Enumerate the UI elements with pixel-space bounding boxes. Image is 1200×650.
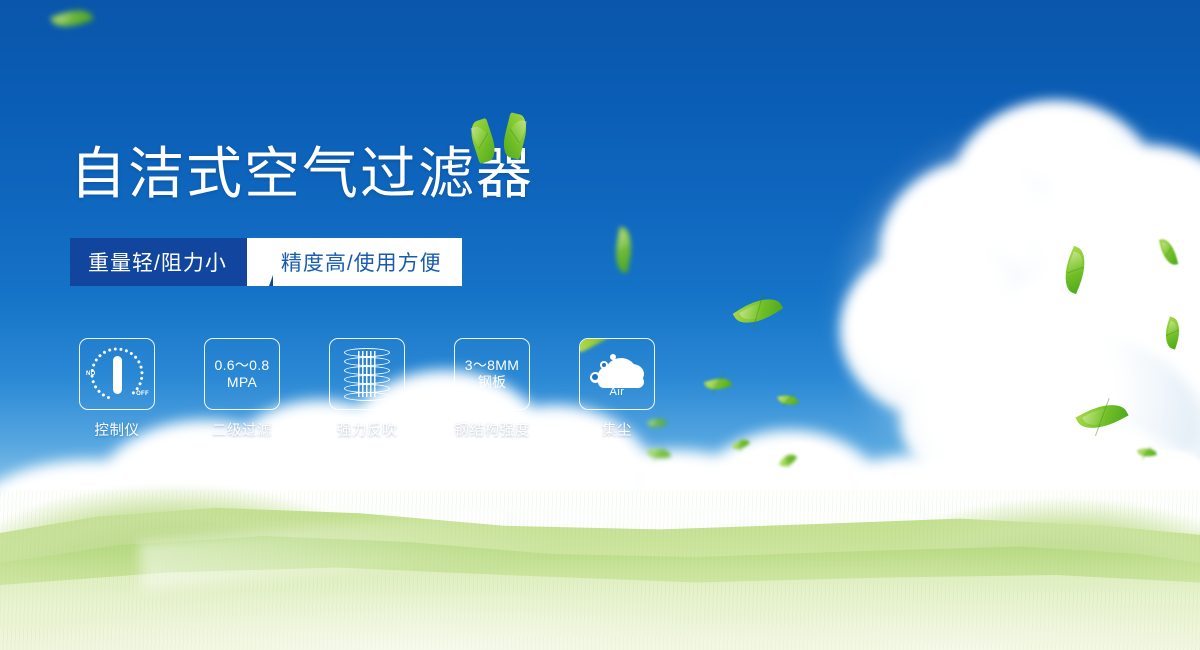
gauge-label-on: NO <box>86 371 96 377</box>
subtitle-right: 精度高/使用方便 <box>273 238 462 286</box>
pressure-value: 0.6～0.8 <box>214 357 269 373</box>
gauge-icon: NO OFF <box>87 347 147 401</box>
feature-label: 二级过滤 <box>212 419 272 440</box>
page-title: 自洁式空气过滤器 <box>70 145 534 204</box>
feature-list: NO OFF 控制仪 0.6～0.8 MPA 二级过滤 <box>79 338 655 440</box>
feature-box: Air <box>579 338 655 410</box>
feature-label: 钢结构强度 <box>454 419 530 440</box>
pressure-unit: MPA <box>214 374 269 392</box>
steel-thickness: 3～8MM <box>465 357 519 373</box>
air-cloud-icon: Air <box>588 352 646 396</box>
feature-box <box>329 338 405 410</box>
feature-item-pulse-blowback[interactable]: 强力反吹 <box>329 338 405 440</box>
feature-label: 控制仪 <box>94 419 139 440</box>
subtitle-divider <box>247 238 273 286</box>
gauge-label-off: OFF <box>136 391 149 397</box>
coil-filter-icon <box>344 348 390 400</box>
feature-label: 集尘 <box>602 419 632 440</box>
feature-item-control-gauge[interactable]: NO OFF 控制仪 <box>79 338 155 440</box>
feature-box: 0.6～0.8 MPA <box>204 338 280 410</box>
steel-material: 钢板 <box>465 374 519 392</box>
product-banner: 自洁式空气过滤器 重量轻/阻力小 精度高/使用方便 <box>0 0 1200 650</box>
subtitle-bar: 重量轻/阻力小 精度高/使用方便 <box>70 238 462 286</box>
feature-box: 3～8MM 钢板 <box>454 338 530 410</box>
feature-label: 强力反吹 <box>337 419 397 440</box>
sprout-leaves-icon <box>473 112 535 162</box>
steel-plate-text-icon: 3～8MM 钢板 <box>465 357 519 392</box>
feature-box: NO OFF <box>79 338 155 410</box>
pressure-text-icon: 0.6～0.8 MPA <box>214 357 269 392</box>
feature-item-steel-strength[interactable]: 3～8MM 钢板 钢结构强度 <box>454 338 530 440</box>
subtitle-left: 重量轻/阻力小 <box>70 238 247 286</box>
sprout-leaf-right <box>500 112 530 160</box>
air-label: Air <box>588 386 646 398</box>
gauge-needle <box>113 356 122 394</box>
grass-sheen <box>0 530 1200 650</box>
feature-item-two-stage-filter[interactable]: 0.6～0.8 MPA 二级过滤 <box>204 338 280 440</box>
feature-item-dust-collection[interactable]: Air 集尘 <box>579 338 655 440</box>
